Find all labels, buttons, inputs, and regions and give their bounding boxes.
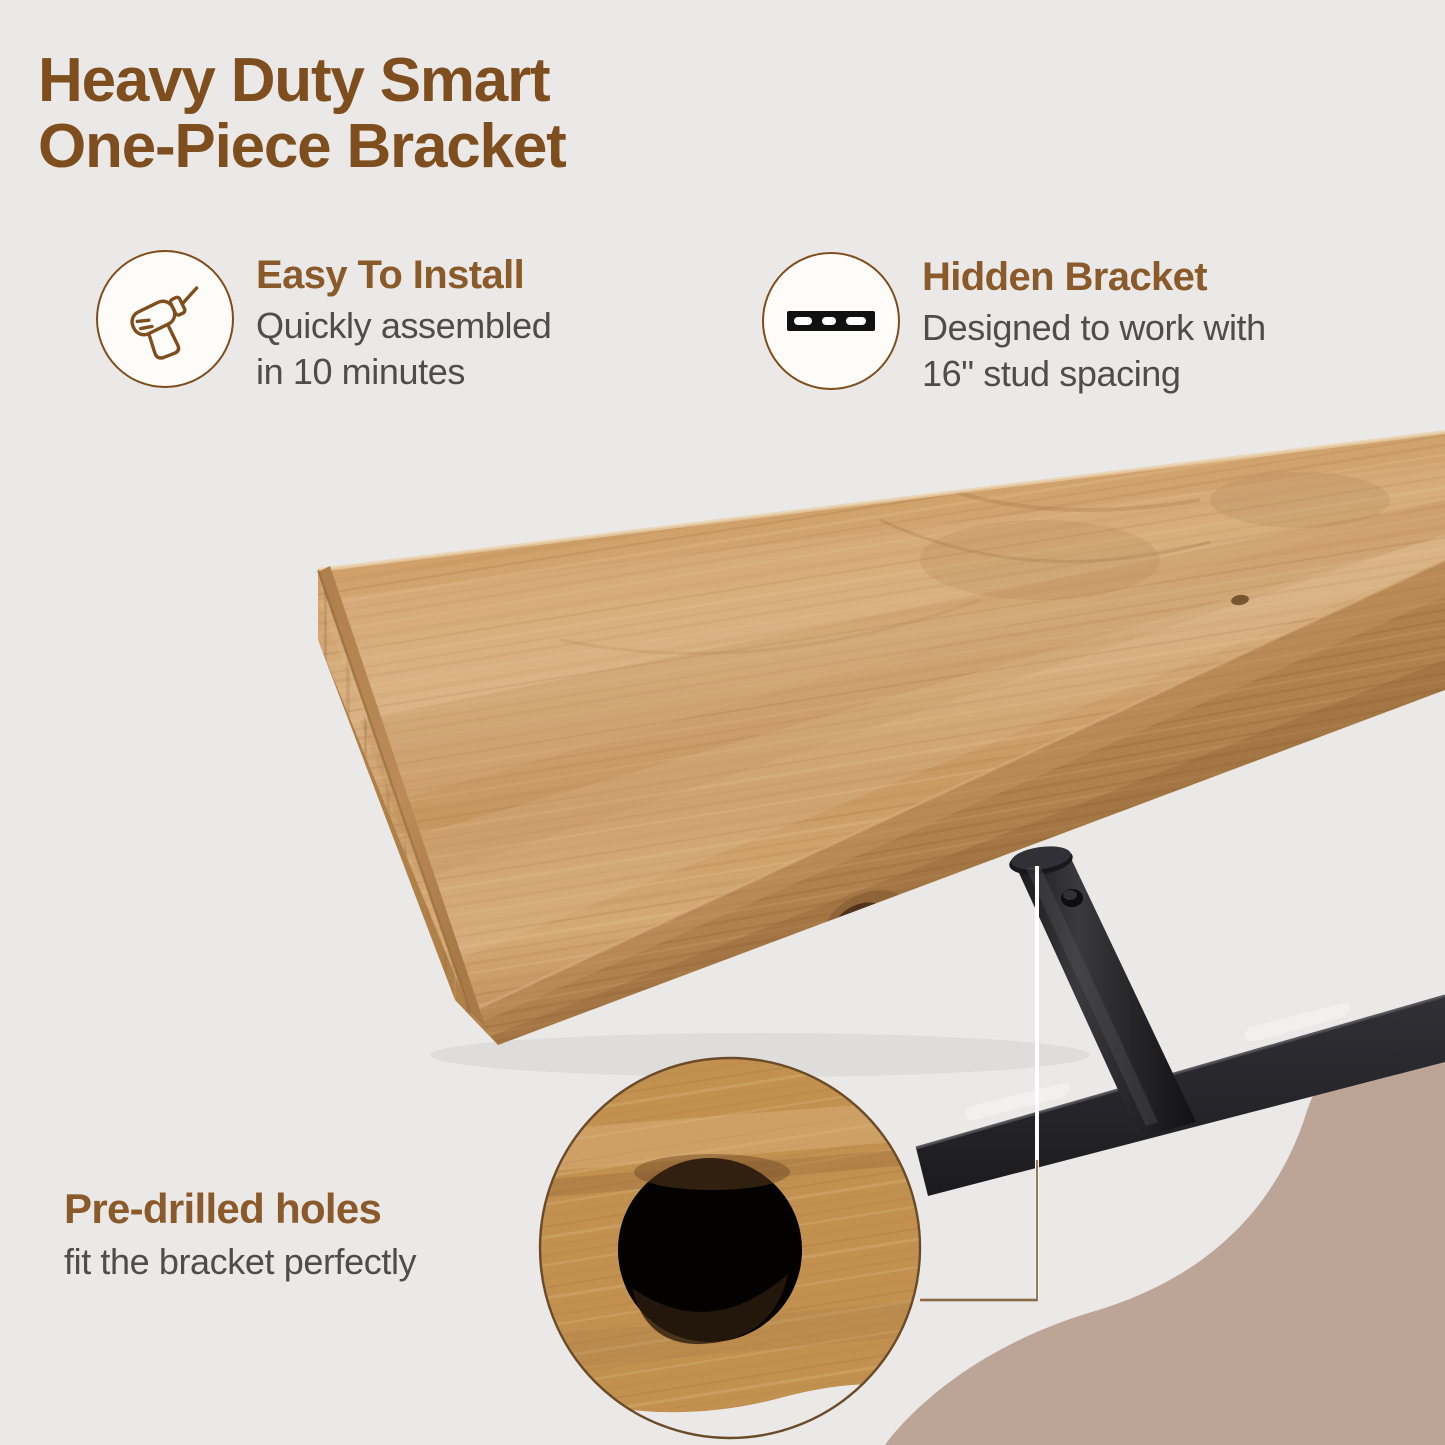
page-title: Heavy Duty Smart One-Piece Bracket bbox=[38, 48, 566, 179]
feature-description: Designed to work with 16" stud spacing bbox=[922, 305, 1266, 397]
feature-title: Easy To Install bbox=[256, 254, 551, 296]
drill-icon bbox=[96, 250, 234, 388]
product-infographic: Heavy Duty Smart One-Piece Bracket bbox=[0, 0, 1445, 1445]
hidden-bracket-icon bbox=[762, 252, 900, 390]
predrilled-holes-caption: Pre-drilled holes fit the bracket perfec… bbox=[64, 1186, 416, 1283]
magnifier-inset bbox=[540, 1058, 920, 1438]
feature-hidden-bracket: Hidden Bracket Designed to work with 16"… bbox=[762, 252, 1266, 397]
caption-title: Pre-drilled holes bbox=[64, 1186, 416, 1232]
caption-subtitle: fit the bracket perfectly bbox=[64, 1241, 416, 1282]
feature-title: Hidden Bracket bbox=[922, 256, 1266, 298]
feature-easy-to-install: Easy To Install Quickly assembled in 10 … bbox=[96, 250, 551, 395]
feature-description: Quickly assembled in 10 minutes bbox=[256, 303, 551, 395]
callout-leader-line bbox=[920, 866, 1037, 1300]
